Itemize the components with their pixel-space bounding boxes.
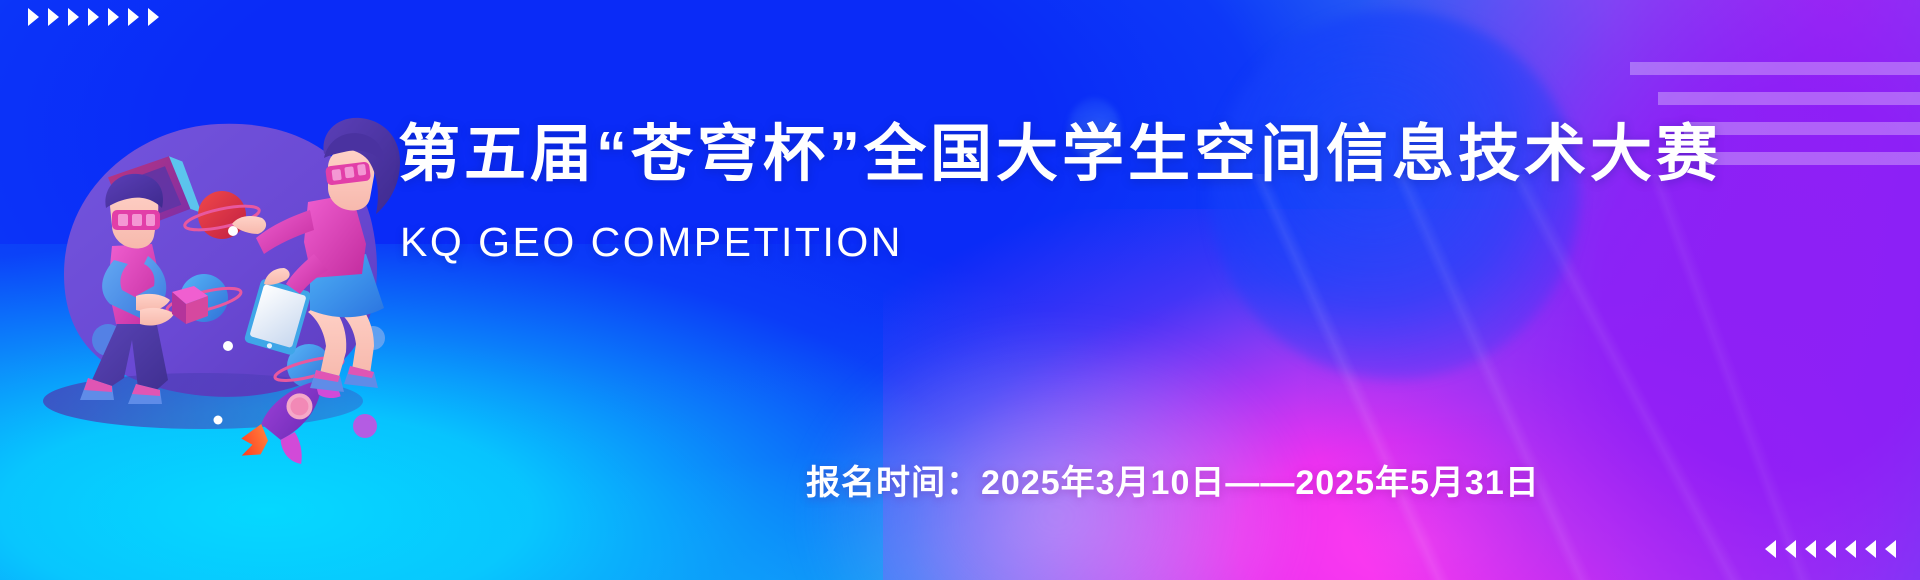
triangle-left-icon <box>1865 540 1876 558</box>
triangle-left-icon <box>1785 540 1796 558</box>
headline-block: 第五届“苍穹杯”全国大学生空间信息技术大赛 KQ GEO COMPETITION <box>398 124 1798 263</box>
bottom-right-arrow-decoration <box>1765 540 1896 558</box>
stripe-bar <box>1630 62 1920 75</box>
triangle-right-icon <box>48 8 59 26</box>
triangle-left-icon <box>1845 540 1856 558</box>
triangle-right-icon <box>108 8 119 26</box>
triangle-left-icon <box>1765 540 1776 558</box>
page-title: 第五届“苍穹杯”全国大学生空间信息技术大赛 <box>398 124 1798 186</box>
triangle-left-icon <box>1885 540 1896 558</box>
triangle-right-icon <box>88 8 99 26</box>
illustration-planet-small-pink <box>353 414 377 438</box>
triangle-left-icon <box>1825 540 1836 558</box>
page-subtitle: KQ GEO COMPETITION <box>400 222 1798 263</box>
registration-period-text: 报名时间：2025年3月10日——2025年5月31日 <box>806 455 1540 504</box>
triangle-right-icon <box>68 8 79 26</box>
triangle-right-icon <box>128 8 139 26</box>
triangle-left-icon <box>1805 540 1816 558</box>
top-left-arrow-decoration <box>28 8 159 26</box>
competition-banner: 第五届“苍穹杯”全国大学生空间信息技术大赛 KQ GEO COMPETITION… <box>0 0 1920 580</box>
triangle-right-icon <box>28 8 39 26</box>
illustration-star <box>214 416 223 425</box>
illustration-star <box>223 341 233 351</box>
stripe-bar <box>1658 92 1920 105</box>
triangle-right-icon <box>148 8 159 26</box>
vr-illustration <box>28 78 408 478</box>
